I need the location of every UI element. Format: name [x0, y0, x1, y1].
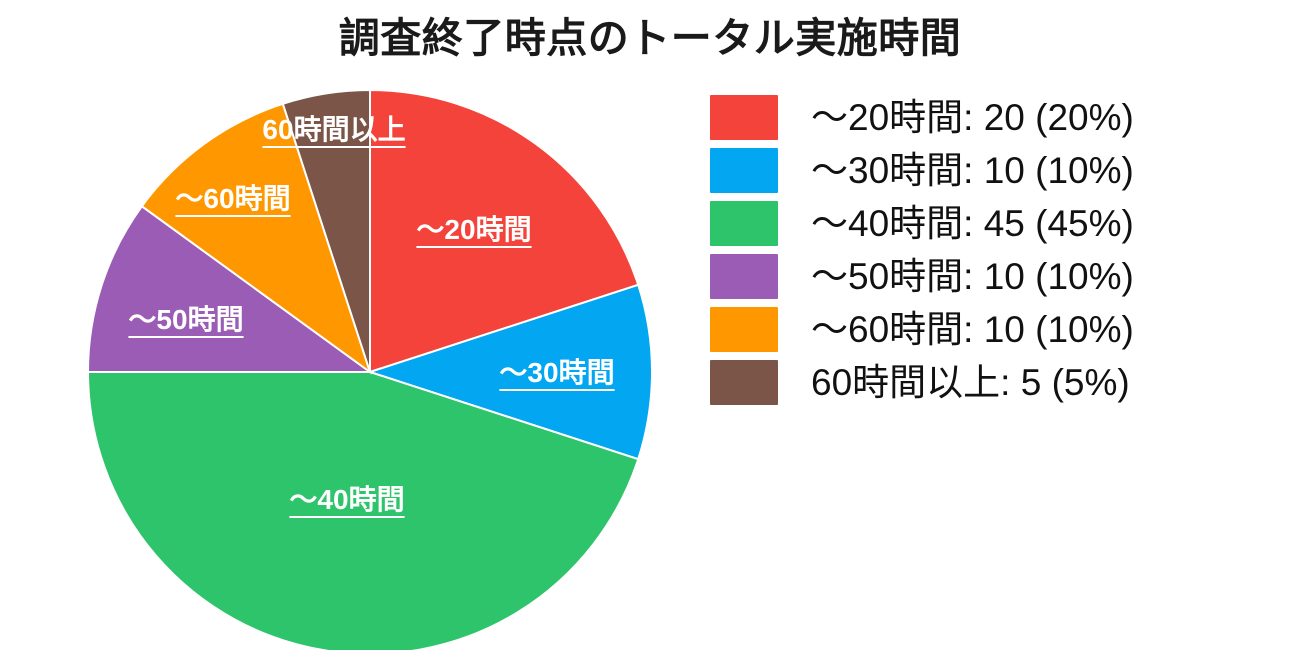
legend-label: 60時間以上: 5 (5%) [811, 364, 1130, 401]
pie-svg [0, 0, 700, 650]
legend-color-swatch [710, 307, 778, 352]
pie-slice-label: 〜60時間 [175, 177, 290, 217]
legend-item[interactable]: 〜20時間: 20 (20%) [710, 92, 1270, 143]
legend-color-swatch [710, 201, 778, 246]
legend-item[interactable]: 60時間以上: 5 (5%) [710, 357, 1270, 408]
legend-item[interactable]: 〜50時間: 10 (10%) [710, 251, 1270, 302]
legend-label: 〜30時間: 10 (10%) [811, 152, 1134, 189]
pie-chart-figure: 調査終了時点のトータル実施時間 〜20時間〜30時間〜40時間〜50時間〜60時… [0, 0, 1300, 650]
legend-label: 〜20時間: 20 (20%) [811, 99, 1134, 136]
legend-label: 〜60時間: 10 (10%) [811, 311, 1134, 348]
pie-slice-label: 60時間以上 [262, 108, 405, 148]
pie-slice-label: 〜30時間 [499, 351, 614, 391]
legend-label: 〜50時間: 10 (10%) [811, 258, 1134, 295]
legend-item[interactable]: 〜60時間: 10 (10%) [710, 304, 1270, 355]
legend-item[interactable]: 〜30時間: 10 (10%) [710, 145, 1270, 196]
legend-color-swatch [710, 360, 778, 405]
pie-slice-label: 〜40時間 [289, 478, 404, 518]
pie-slice-label: 〜50時間 [128, 298, 243, 338]
legend-color-swatch [710, 148, 778, 193]
pie-slice-label: 〜20時間 [416, 208, 531, 248]
pie-plot-area: 〜20時間〜30時間〜40時間〜50時間〜60時間60時間以上 [0, 0, 700, 650]
legend-label: 〜40時間: 45 (45%) [811, 205, 1134, 242]
legend-color-swatch [710, 254, 778, 299]
legend-color-swatch [710, 95, 778, 140]
legend-item[interactable]: 〜40時間: 45 (45%) [710, 198, 1270, 249]
chart-legend: 〜20時間: 20 (20%)〜30時間: 10 (10%)〜40時間: 45 … [710, 92, 1270, 410]
